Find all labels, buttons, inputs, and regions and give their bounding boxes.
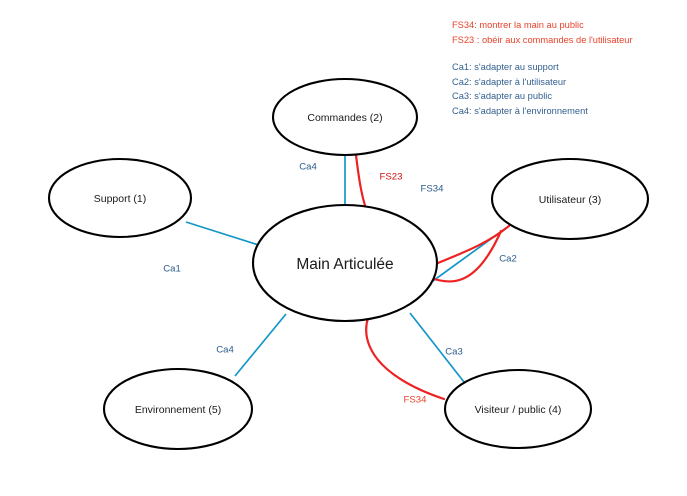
node-visiteur-public[interactable]: Visiteur / public (4) [445, 370, 591, 448]
legend-capacite-item: Ca2: s'adapter à l'utilisateur [452, 75, 674, 90]
node-environnement[interactable]: Environnement (5) [104, 369, 252, 449]
legend-flux-block: FS34: montrer la main au public FS23 : o… [452, 18, 674, 47]
legend-capacites-block: Ca1: s'adapter au support Ca2: s'adapter… [452, 60, 674, 118]
link-support[interactable] [186, 222, 268, 248]
node-support[interactable]: Support (1) [49, 159, 191, 237]
node-utilisateur[interactable]: Utilisateur (3) [492, 159, 648, 239]
node-support-label: Support (1) [94, 193, 147, 205]
node-commandes[interactable]: Commandes (2) [273, 79, 417, 155]
edge-label-ca1-support: Ca1 [163, 264, 181, 275]
legend-capacite-item: Ca4: s'adapter à l'environnement [452, 104, 674, 119]
node-environnement-label: Environnement (5) [135, 404, 221, 416]
legend-capacite-item: Ca3: s'adapter au public [452, 89, 674, 104]
node-main-articulee[interactable]: Main Articulée [253, 205, 437, 321]
node-utilisateur-label: Utilisateur (3) [539, 194, 601, 206]
edge-label-ca3-visiteur: Ca3 [445, 347, 463, 358]
legend-flux-item: FS34: montrer la main au public [452, 18, 674, 33]
pieuvre-diagram: Support (1) Commandes (2) Utilisateur (3… [0, 0, 687, 496]
edge-label-ca4-environnement: Ca4 [216, 345, 234, 356]
edge-label-fs34-bottom: FS34 [404, 395, 428, 406]
legend-capacite-item: Ca1: s'adapter au support [452, 60, 674, 75]
node-visiteur-public-label: Visiteur / public (4) [475, 404, 562, 416]
edge-label-ca4-commandes: Ca4 [299, 162, 317, 173]
edge-label-fs23: FS23 [380, 172, 403, 183]
legend: FS34: montrer la main au public FS23 : o… [452, 18, 674, 118]
edge-label-fs34-top: FS34 [421, 184, 445, 195]
edge-label-ca2-utilisateur: Ca2 [499, 254, 517, 265]
legend-flux-item: FS23 : obéir aux commandes de l'utilisat… [452, 33, 674, 48]
node-commandes-label: Commandes (2) [307, 112, 382, 124]
link-environnement[interactable] [235, 314, 286, 376]
node-main-articulee-label: Main Articulée [296, 256, 393, 273]
